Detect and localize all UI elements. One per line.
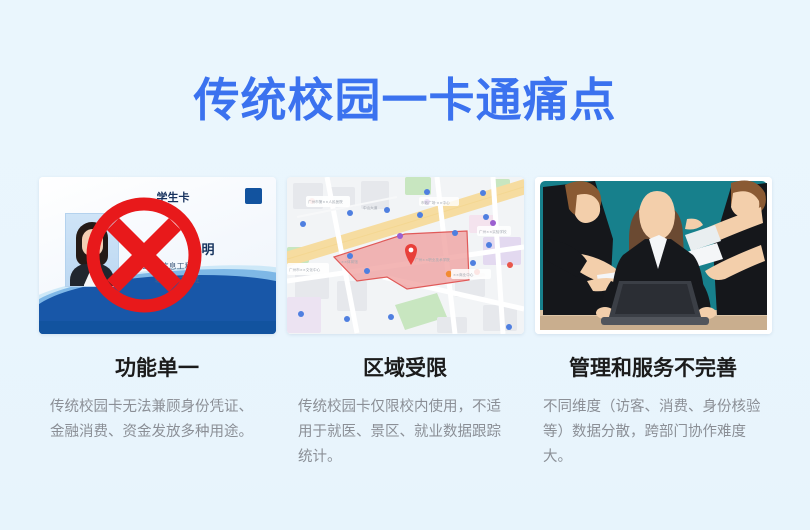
card-chip-icon <box>245 188 262 204</box>
office-illustration-thumbnail <box>535 177 772 334</box>
svg-text:广州××实验学校: 广州××实验学校 <box>479 229 507 234</box>
page-title: 传统校园一卡通痛点 <box>0 72 810 128</box>
student-name: 小明 <box>189 239 215 258</box>
pain-point-card-list: 学生卡 小明 23级信息工程系 软件技术2班 <box>0 177 810 470</box>
card-title: 管理和服务不完善 <box>569 355 737 381</box>
card-bottom-bar <box>39 321 276 334</box>
svg-text:广州××职业技术学院: 广州××职业技术学院 <box>415 257 450 262</box>
campus-map-thumbnail: 广州市第××人民医院 市政广场·××中心 广州××实验学校 广州市××文化中心 … <box>287 177 524 334</box>
overwhelmed-worker-graphic <box>535 177 772 334</box>
campus-boundary-map-graphic: 广州市第××人民医院 市政广场·××中心 广州××实验学校 广州市××文化中心 … <box>287 177 524 334</box>
svg-text:××商业中心: ××商业中心 <box>453 272 474 277</box>
slide-root: 传统校园一卡通痛点 学生卡 小明 <box>0 0 810 530</box>
laptop-icon <box>601 281 709 325</box>
card-title: 区域受限 <box>363 355 447 381</box>
pain-point-card: 管理和服务不完善 不同维度（访客、消费、身份核验等）数据分散，跨部门协作难度大。 <box>535 177 772 470</box>
student-class: 软件技术2班 <box>155 274 200 285</box>
student-card-graphic: 学生卡 小明 23级信息工程系 软件技术2班 <box>39 177 276 334</box>
student-department: 23级信息工程系 <box>143 261 201 272</box>
student-card-thumbnail: 学生卡 小明 23级信息工程系 软件技术2班 <box>39 177 276 334</box>
svg-text:广州市第××人民医院: 广州市第××人民医院 <box>308 199 343 204</box>
student-photo <box>65 213 119 287</box>
card-description: 不同维度（访客、消费、身份核验等）数据分散，跨部门协作难度大。 <box>543 395 763 470</box>
card-title: 功能单一 <box>115 355 199 381</box>
svg-text:市政广场·××中心: 市政广场·××中心 <box>421 200 450 205</box>
card-description: 传统校园卡无法兼顾身份凭证、金融消费、资金发放多种用途。 <box>50 395 264 445</box>
pain-point-card: 学生卡 小明 23级信息工程系 软件技术2班 <box>39 177 276 470</box>
svg-text:广州市××文化中心: 广州市××文化中心 <box>289 267 321 272</box>
photo-face-shape <box>82 229 103 256</box>
svg-text:中山大道: 中山大道 <box>363 205 378 210</box>
card-description: 传统校园卡仅限校内使用，不适用于就医、景区、就业数据跟踪统计。 <box>298 395 512 470</box>
pain-point-card: 广州市第××人民医院 市政广场·××中心 广州××实验学校 广州市××文化中心 … <box>287 177 524 470</box>
svg-text:××体育馆: ××体育馆 <box>341 259 358 264</box>
student-card-label: 学生卡 <box>157 189 190 205</box>
